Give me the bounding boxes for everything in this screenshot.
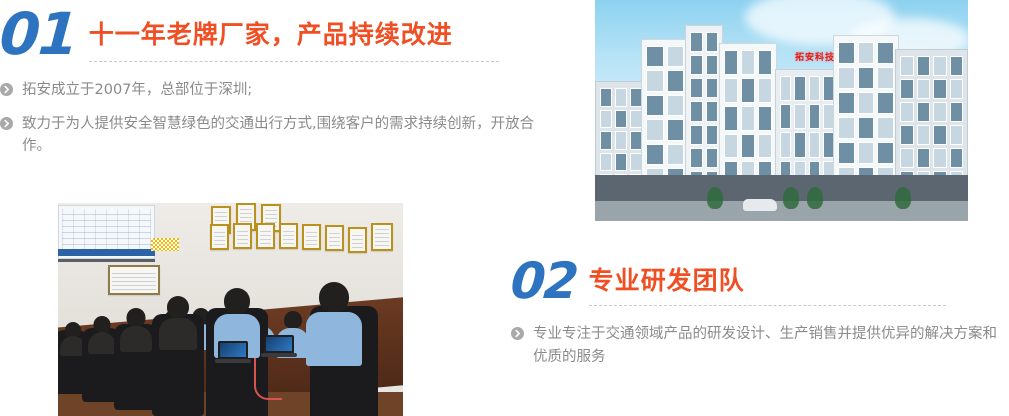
section-02-number: 02 [509, 258, 578, 304]
list-item-label: 致力于为人提供安全智慧绿色的交通出行方式,围绕客户的需求持续创新，开放合作。 [22, 114, 560, 158]
screen-taskbar [58, 249, 155, 256]
company-sign-text: 拓安科技 [795, 50, 835, 63]
list-item: 致力于为人提供安全智慧绿色的交通出行方式,围绕客户的需求持续创新，开放合作。 [0, 114, 560, 158]
section-02: 02 专业研发团队 专业专注于交通领域产品的研发设计、生产销售并提供优异的解决方… [511, 258, 1009, 369]
list-item: 专业专注于交通领域产品的研发设计、生产销售并提供优异的解决方案和优质的服务 [511, 323, 1009, 370]
projector-screen [58, 205, 155, 262]
wall-plaque [108, 265, 160, 295]
section-02-divider [589, 305, 946, 306]
section-01: 01 十一年老牌厂家，产品持续改进 拓安成立于2007年，总部位于深圳; [0, 8, 560, 171]
section-01-divider [89, 61, 499, 62]
tree [895, 187, 911, 209]
certificate-frame [302, 224, 321, 250]
decorative-checker-band [151, 238, 179, 251]
promo-page: 01 十一年老牌厂家，产品持续改进 拓安成立于2007年，总部位于深圳; [0, 0, 1009, 416]
tree [783, 187, 799, 209]
person [120, 308, 152, 352]
person [88, 316, 116, 354]
certificate-frame [348, 227, 367, 253]
chevron-right-circle-icon [0, 83, 13, 96]
building-photo: 拓安科技 [595, 0, 968, 221]
laptop [264, 335, 294, 354]
section-01-title: 十一年老牌厂家，产品持续改进 [77, 21, 560, 49]
chevron-right-circle-icon [0, 117, 13, 130]
tree [807, 187, 823, 209]
chevron-right-circle-icon [511, 327, 524, 340]
section-02-header: 02 专业研发团队 [511, 258, 1009, 306]
certificate-frame [256, 223, 275, 249]
certificate-frame [371, 223, 393, 251]
certificate-frame [279, 223, 298, 249]
section-01-header: 01 十一年老牌厂家，产品持续改进 [0, 8, 560, 62]
street-ground [595, 201, 968, 221]
section-01-title-wrap: 十一年老牌厂家，产品持续改进 [77, 8, 560, 62]
list-item: 拓安成立于2007年，总部位于深圳; [0, 80, 560, 102]
list-item-label: 专业专注于交通领域产品的研发设计、生产销售并提供优异的解决方案和优质的服务 [533, 323, 999, 370]
certificate-frame [233, 223, 252, 249]
section-02-title-wrap: 专业研发团队 [577, 258, 1009, 306]
list-item-label: 拓安成立于2007年，总部位于深圳; [22, 80, 560, 102]
laptop [218, 341, 248, 360]
person [306, 282, 362, 366]
power-cable [254, 358, 282, 400]
section-01-bullet-list: 拓安成立于2007年，总部位于深圳; 致力于为人提供安全智慧绿色的交通出行方式,… [0, 80, 560, 158]
section-02-title: 专业研发团队 [577, 267, 1009, 295]
certificate-frame [210, 224, 229, 250]
tree [707, 187, 723, 209]
certificate-frame [325, 225, 344, 251]
office-meeting-photo [58, 203, 403, 416]
person [159, 296, 197, 350]
parked-car [743, 199, 777, 211]
section-01-number: 01 [0, 8, 79, 61]
section-02-bullet-list: 专业专注于交通领域产品的研发设计、生产销售并提供优异的解决方案和优质的服务 [511, 323, 1009, 370]
screen-content [62, 209, 151, 251]
